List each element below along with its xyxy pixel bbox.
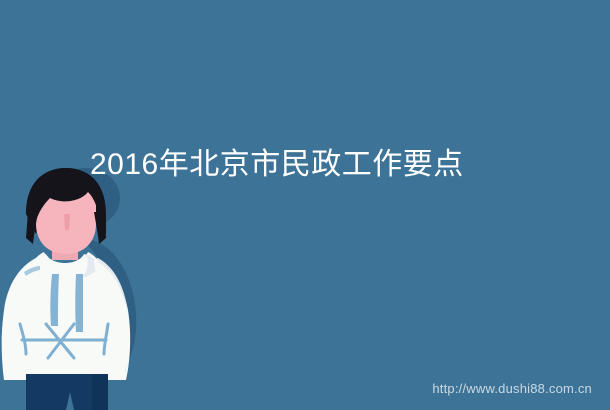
article-title-banner: 2016年北京市民政工作要点 http://www.dushi88.com.cn bbox=[0, 0, 610, 410]
page-title: 2016年北京市民政工作要点 bbox=[90, 146, 520, 184]
watermark-url: http://www.dushi88.com.cn bbox=[432, 381, 592, 396]
pants bbox=[26, 374, 108, 410]
face-feature bbox=[64, 214, 70, 230]
person-in-white-hoodie-illustration bbox=[0, 168, 160, 410]
